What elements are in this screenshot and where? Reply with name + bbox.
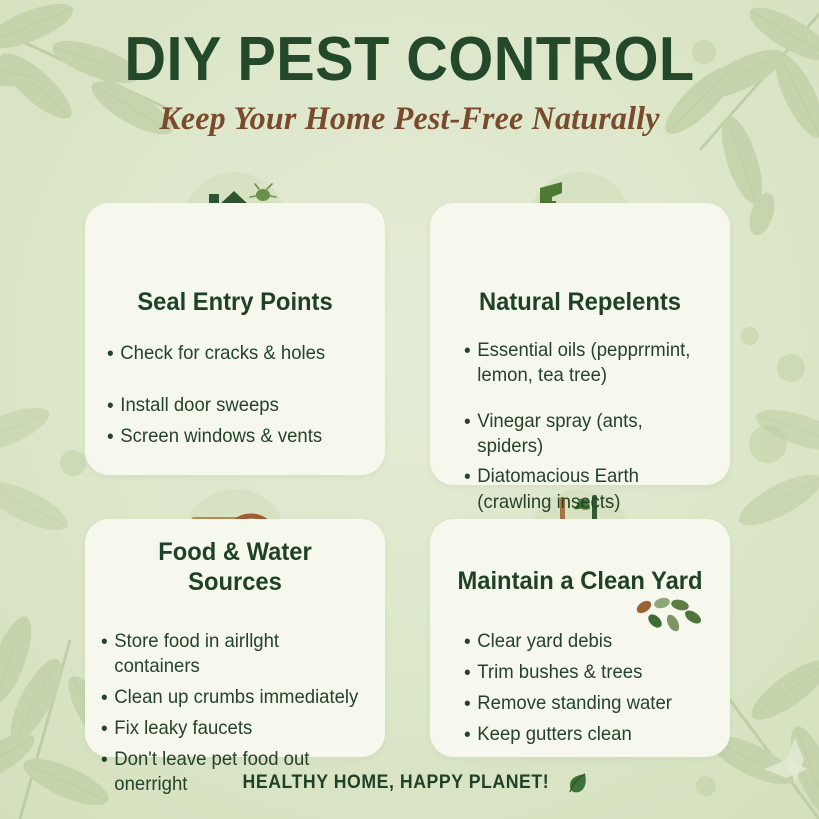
list-item-label: Store food in airllght containers (114, 629, 359, 680)
list-item: • Check for cracks & holes (107, 341, 360, 367)
bullet-dot: • (464, 409, 477, 435)
poster-footer: HEALTHY HOME, HAPPY PLANET! (0, 772, 819, 794)
list-item-label: Keep gutters clean (477, 722, 705, 747)
list-item: • Trim bushes & trees (464, 660, 705, 686)
bullet-dot: • (107, 393, 120, 419)
list-item-label: Remove standing water (477, 691, 705, 716)
card-title-line-1: Food & Water (93, 537, 378, 567)
list-item: • Diatomacious Earth (crawling insects) (464, 464, 705, 515)
bullet-dot: • (101, 629, 114, 655)
bullet-dot: • (464, 338, 477, 364)
infographic-poster: DIY PEST CONTROL Keep Your Home Pest-Fre… (0, 0, 819, 819)
bullet-dot: • (101, 685, 114, 711)
list-item-label: Vinegar spray (ants, spiders) (477, 409, 705, 460)
card-title: Seal Entry Points (93, 287, 378, 317)
bullet-dot: • (101, 747, 114, 773)
card-seal-entry-points[interactable]: Seal Entry Points • Check for cracks & h… (85, 203, 385, 475)
bullet-dot: • (464, 464, 477, 490)
list-item: • Store food in airllght containers (101, 629, 359, 680)
card-title: Maintain a Clean Yard (438, 566, 723, 596)
list-item: • Remove standing water (464, 691, 705, 717)
list-item: • Fix leaky faucets (101, 716, 359, 742)
list-item-label: Fix leaky faucets (114, 716, 359, 741)
card-bullet-list: • Essential oils (pepprrmint, lemon, tea… (464, 338, 705, 520)
bullet-dot: • (107, 424, 120, 450)
list-item: • Essential oils (pepprrmint, lemon, tea… (464, 338, 705, 389)
card-title: Food & Water Sources (93, 537, 378, 597)
bullet-dot: • (107, 341, 120, 367)
list-item-label: Install door sweeps (120, 393, 359, 418)
list-item-label: Clear yard debis (477, 629, 705, 654)
card-title: Natural Repelents (438, 287, 723, 317)
bullet-dot: • (101, 716, 114, 742)
poster-subtitle: Keep Your Home Pest-Free Naturally (12, 101, 806, 138)
list-item-label: Clean up crumbs immediately (114, 685, 359, 710)
bullet-dot: • (464, 629, 477, 655)
bullet-dot: • (464, 691, 477, 717)
poster-title: DIY PEST CONTROL (29, 28, 791, 91)
card-food-water-sources[interactable]: Food & Water Sources • Store food in air… (85, 519, 385, 757)
footer-text: HEALTHY HOME, HAPPY PLANET! (242, 772, 549, 794)
card-bullet-list: • Clear yard debis • Trim bushes & trees… (464, 629, 705, 753)
card-maintain-clean-yard[interactable]: Maintain a Clean Yard • Clear yard debis… (430, 519, 730, 757)
list-item-label: Diatomacious Earth (crawling insects) (477, 464, 705, 515)
list-item: • Keep gutters clean (464, 722, 705, 748)
list-item-label: Trim bushes & trees (477, 660, 705, 685)
leaf-icon (568, 772, 588, 794)
list-item: • Install door sweeps (107, 393, 360, 419)
list-item: • Clear yard debis (464, 629, 705, 655)
list-item-label: Check for cracks & holes (120, 341, 359, 366)
card-title-line-2: Sources (93, 567, 378, 597)
card-bullet-list: • Check for cracks & holes • Install doo… (107, 341, 360, 455)
list-item: • Clean up crumbs immediately (101, 685, 359, 711)
bullet-dot: • (464, 722, 477, 748)
bullet-dot: • (464, 660, 477, 686)
list-item-label: Essential oils (pepprrmint, lemon, tea t… (477, 338, 705, 389)
list-item: • Screen windows & vents (107, 424, 360, 450)
card-natural-repelents[interactable]: Natural Repelents • Essential oils (pepp… (430, 203, 730, 485)
list-item: • Vinegar spray (ants, spiders) (464, 409, 705, 460)
poster-header: DIY PEST CONTROL Keep Your Home Pest-Fre… (0, 28, 819, 138)
list-item-label: Screen windows & vents (120, 424, 359, 449)
